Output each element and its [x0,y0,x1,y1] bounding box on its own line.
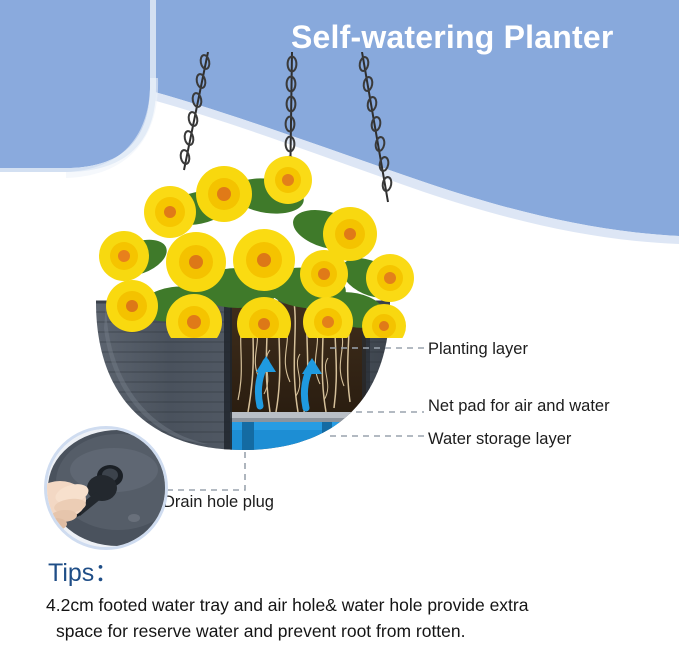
tips-line-2: space for reserve water and prevent root… [56,621,466,642]
drain-hole-plug-inset [44,426,168,550]
leader-drain-hole-plug [158,452,245,490]
tips-heading: Tips： [48,553,119,589]
callout-label-net-pad: Net pad for air and water [428,397,610,416]
callout-label-planting-layer: Planting layer [428,340,528,359]
infographic-canvas: Self-watering Planter [0,0,679,654]
callout-label-drain-hole-plug: Drain hole plug [163,493,274,512]
callout-label-water-storage: Water storage layer [428,430,571,449]
pot-foot [128,514,140,522]
drain-plug-photo [44,426,168,550]
tips-line-1: 4.2cm footed water tray and air hole& wa… [46,595,528,616]
